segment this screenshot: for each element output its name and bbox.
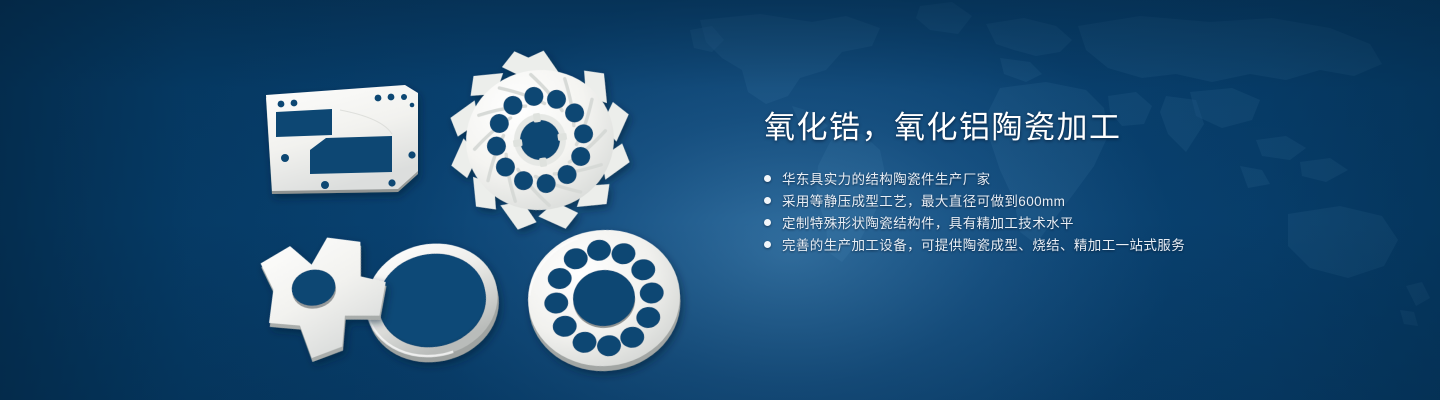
list-item: 定制特殊形状陶瓷结构件，具有精加工技术水平 — [764, 211, 1324, 233]
list-item: 采用等静压成型工艺，最大直径可做到600mm — [764, 189, 1324, 211]
page-title: 氧化锆，氧化铝陶瓷加工 — [764, 108, 1324, 148]
feature-text: 华东具实力的结构陶瓷件生产厂家 — [782, 168, 991, 188]
ceramic-perforated-disc — [521, 222, 687, 378]
banner-text-block: 氧化锆，氧化铝陶瓷加工 华东具实力的结构陶瓷件生产厂家 采用等静压成型工艺，最大… — [764, 108, 1324, 255]
bullet-dot-icon — [764, 175, 771, 182]
bullet-dot-icon — [764, 241, 771, 248]
bullet-dot-icon — [764, 197, 771, 204]
feature-text: 完善的生产加工设备，可提供陶瓷成型、烧结、精加工一站式服务 — [782, 234, 1185, 254]
feature-text: 定制特殊形状陶瓷结构件，具有精加工技术水平 — [782, 212, 1074, 232]
bullet-dot-icon — [764, 219, 771, 226]
feature-text: 采用等静压成型工艺，最大直径可做到600mm — [782, 190, 1065, 210]
ceramic-parts-photo-collage — [0, 0, 760, 400]
list-item: 完善的生产加工设备，可提供陶瓷成型、烧结、精加工一站式服务 — [764, 233, 1324, 255]
ceramic-impeller — [430, 30, 650, 250]
hero-banner: 氧化锆，氧化铝陶瓷加工 华东具实力的结构陶瓷件生产厂家 采用等静压成型工艺，最大… — [0, 0, 1440, 400]
list-item: 华东具实力的结构陶瓷件生产厂家 — [764, 167, 1324, 189]
ceramic-machined-plate — [266, 85, 418, 194]
ceramic-cross-part — [256, 229, 397, 368]
feature-list: 华东具实力的结构陶瓷件生产厂家 采用等静压成型工艺，最大直径可做到600mm 定… — [764, 167, 1324, 255]
